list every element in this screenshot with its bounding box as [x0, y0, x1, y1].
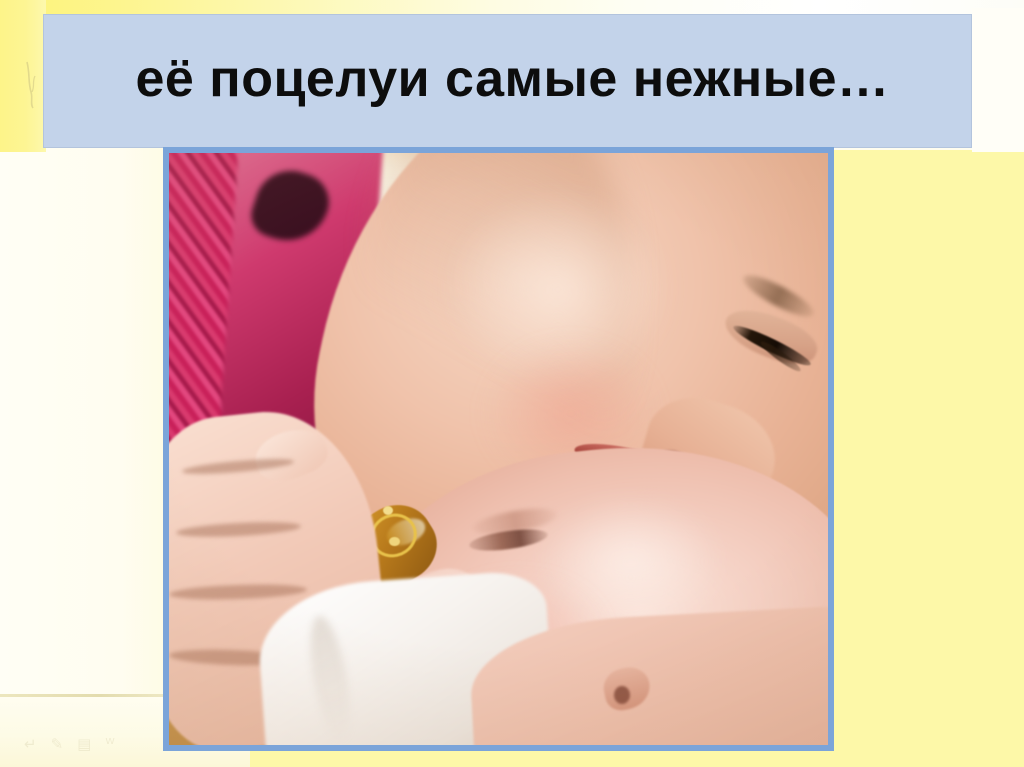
photo-baby-ear-canal	[614, 686, 630, 704]
title-box[interactable]: её поцелуи самые нежные…	[43, 14, 972, 148]
watermark-w-icon: ᵂ	[105, 735, 114, 753]
background-top-right-white-notch	[972, 8, 1024, 152]
photo-mother-kissing-baby	[169, 153, 828, 745]
slide: её поцелуи самые нежные…	[0, 0, 1024, 767]
watermark-return-icon: ↵	[24, 735, 37, 753]
watermark-icon-row: ↵ ✎ ▤ ᵂ	[24, 735, 115, 753]
watermark-left-mark	[24, 58, 40, 110]
background-cream-column-lower	[0, 148, 172, 767]
photo-pacifier-bead-lower	[389, 537, 400, 546]
photo-frame[interactable]	[163, 147, 834, 751]
watermark-pencil-icon: ✎	[51, 735, 64, 753]
watermark-list-icon: ▤	[77, 735, 91, 753]
page-title: её поцелуи самые нежные…	[126, 52, 890, 111]
